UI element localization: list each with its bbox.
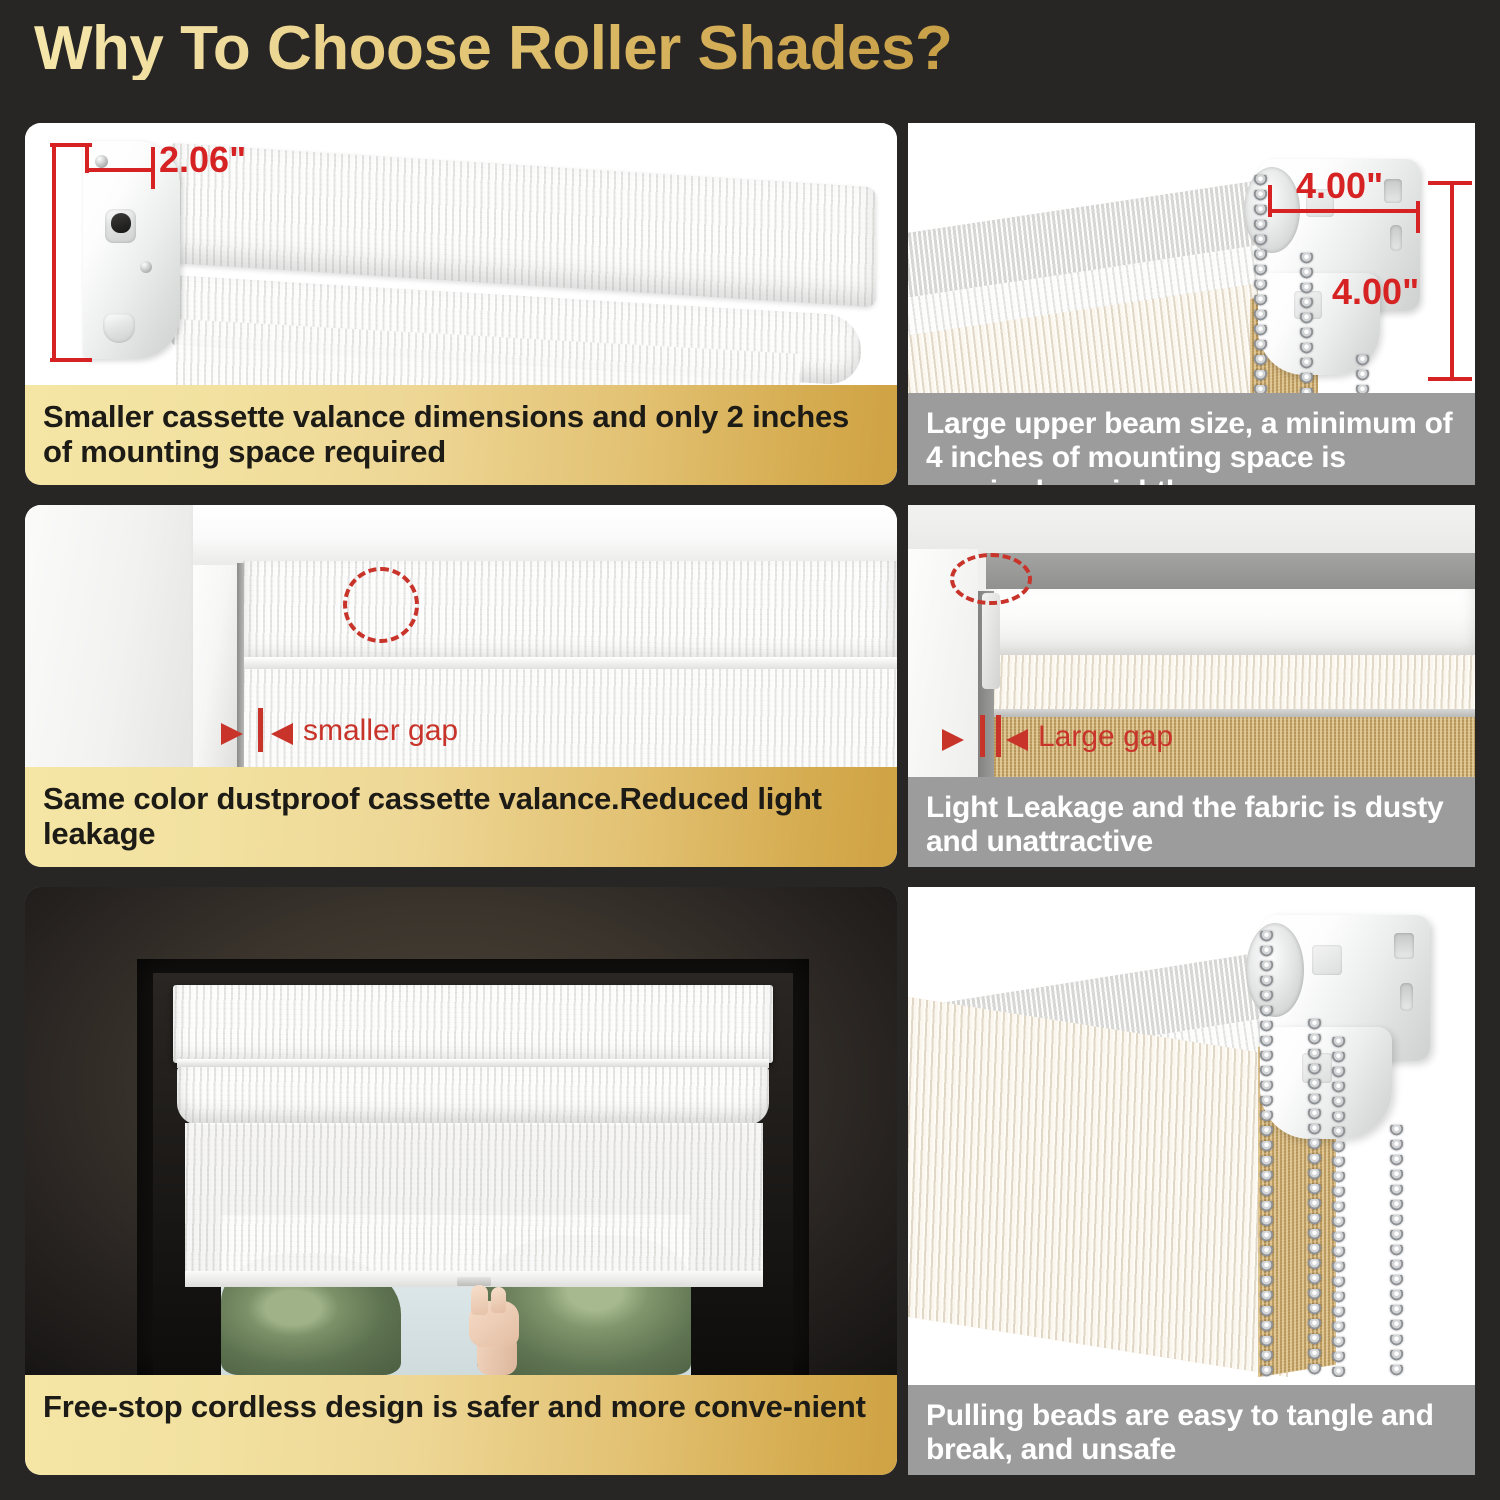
wall-upper [908,505,1475,555]
panel-4-caption-text: Light Leakage and the fabric is dusty an… [926,791,1457,859]
beam-dim-width-tick-left [1268,185,1272,217]
panel-large-beam: 4.00" 4.00" Large upper beam size, a min… [908,123,1475,485]
gap-arrow-right [271,723,293,745]
bead-bracket-icon-upper [1312,945,1342,975]
end-cap-screw-mid [140,261,152,273]
pull-bead-chain-3 [1332,1037,1345,1377]
window-head-casing [193,505,897,565]
ceiling-recess-shadow [986,553,1475,593]
dim-width-line [87,168,153,172]
bead-chain-left [1254,175,1267,398]
fabric-band-cream [992,655,1475,713]
beam-dim-height-line [1450,181,1454,379]
large-gap-marker-bar-1 [980,715,985,757]
large-gap-arrow-left [942,729,964,751]
center-grip-tab [457,1277,491,1286]
panel-5-caption-text: Free-stop cordless design is safer and m… [43,1389,866,1424]
cassette-valance [241,561,897,666]
panel-4-caption: Light Leakage and the fabric is dusty an… [908,777,1475,867]
panel-5-photo [25,887,897,1375]
dim-height-tick-bottom [50,358,92,362]
bead-bracket-slot-1 [1394,933,1414,959]
dim-width-tick-left [85,147,89,173]
panel-cordless-design: Free-stop cordless design is safer and m… [25,887,897,1475]
large-gap-arrow-right [1006,729,1028,751]
panel-6-caption: Pulling beads are easy to tangle and bre… [908,1385,1475,1475]
upper-beam [986,589,1475,659]
bracket-slot-1 [1384,179,1402,203]
beam-dim-width-tick-right [1416,201,1420,233]
beam-dim-height-label: 4.00" [1332,271,1419,313]
panel-pulling-beads: Pulling beads are easy to tangle and bre… [908,887,1475,1475]
gap-marker-bar [258,708,263,752]
end-cap-clutch-hole [111,213,131,233]
large-gap-label: Large gap [1038,720,1173,754]
bead-bracket-lower [1260,1027,1392,1139]
panel-1-caption: Smaller cassette valance dimensions and … [25,385,897,485]
panel-smaller-cassette: 2.06" 5.49" Smaller cassette valance dim… [25,123,897,485]
bead-clutch-wheel [1246,923,1304,1017]
panel-6-photo [908,887,1475,1377]
gap-detail-highlight [950,553,1032,605]
window-cassette-headrail [173,985,773,1063]
bead-chain-right [1356,355,1369,398]
panel-2-photo: 4.00" 4.00" [908,123,1475,398]
hand-finger [471,1285,488,1315]
beam-dim-height-tick-top [1428,181,1472,185]
large-gap-marker-bar-2 [996,715,1001,757]
bead-bracket-slot-2 [1400,983,1413,1011]
beam-dim-width-label: 4.00" [1296,165,1383,207]
end-cap-screw-top [95,155,108,168]
bracket-peg [982,593,1000,689]
smaller-gap-label: smaller gap [303,714,458,748]
panel-light-leakage: Large gap Light Leakage and the fabric i… [908,505,1475,867]
panel-dustproof-valance: smaller gap Same color dustproof cassett… [25,505,897,867]
gap-arrow-left [221,723,243,745]
front-roll [177,1067,769,1125]
beam-dim-height-tick-bottom [1428,377,1472,381]
panel-6-caption-text: Pulling beads are easy to tangle and bre… [926,1399,1457,1467]
dim-width-tick-right [151,147,155,189]
hanging-fabric-cream [908,990,1288,1377]
bead-chain-mid [1300,253,1313,398]
beam-dim-width-line [1270,209,1418,213]
panel-3-caption-text: Same color dustproof cassette valance.Re… [43,781,879,851]
window-jamb-outer [25,505,195,777]
dim-height-line [52,143,56,361]
pull-bead-chain-1 [1260,931,1273,1377]
bracket-slot-2 [1390,225,1402,251]
panel-4-photo: Large gap [908,505,1475,777]
valance-lip [241,657,897,669]
panel-3-photo: smaller gap [25,505,897,777]
cassette-detail-highlight [343,567,419,643]
hand-thumb [491,1287,506,1313]
pull-bead-chain-4 [1390,1125,1403,1377]
panel-2-caption: Large upper beam size, a minimum of 4 in… [908,393,1475,485]
panel-2-caption-text: Large upper beam size, a minimum of 4 in… [926,407,1457,485]
panel-1-caption-text: Smaller cassette valance dimensions and … [43,399,879,469]
pull-bead-chain-2 [1308,1019,1321,1377]
panel-3-caption: Same color dustproof cassette valance.Re… [25,767,897,867]
panel-1-photo: 2.06" 5.49" [25,123,897,398]
window-shade-fabric [185,1123,763,1275]
dim-width-label: 2.06" [159,139,246,181]
dim-height-tick-top [50,143,92,147]
page-title: Why To Choose Roller Shades? [34,18,952,80]
infographic-root: Why To Choose Roller Shades? [0,0,1500,1500]
panel-5-caption: Free-stop cordless design is safer and m… [25,1375,897,1475]
